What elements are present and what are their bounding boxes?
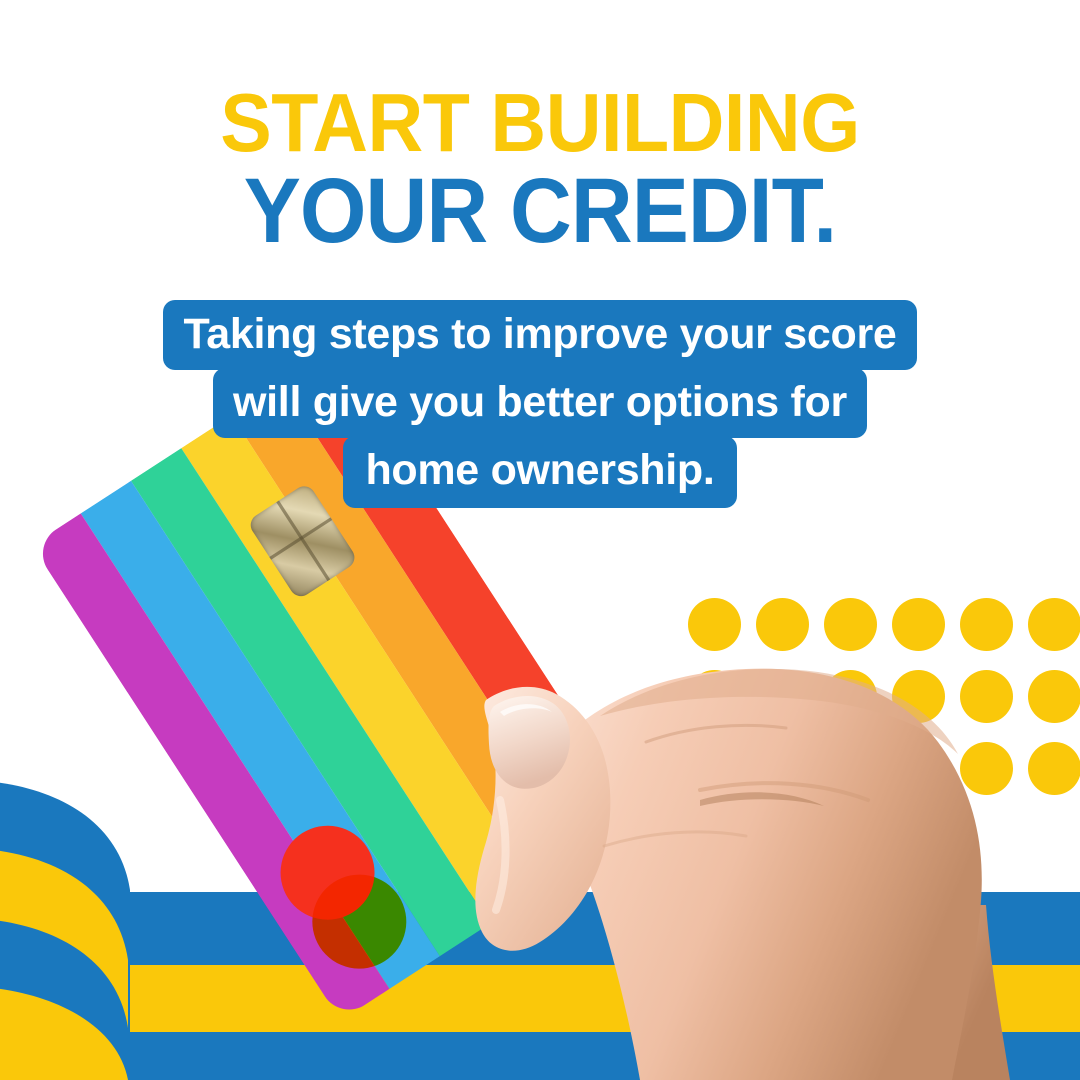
dot <box>892 670 945 723</box>
credit-card-graphic <box>112 508 542 1008</box>
wave-riser-blue-2 <box>0 918 128 1080</box>
subtitle-line-1: Taking steps to improve your score <box>163 300 916 370</box>
logo-circle-red <box>263 808 393 938</box>
dot <box>824 598 877 651</box>
thumbnail <box>489 696 570 789</box>
knuckle-shadow <box>700 792 824 806</box>
payment-network-logo <box>263 808 425 987</box>
dot <box>756 598 809 651</box>
dot <box>892 742 945 795</box>
card-stripe-magenta <box>32 513 390 1021</box>
headline: START BUILDING YOUR CREDIT. <box>0 84 1080 255</box>
wave-riser-yellow-2 <box>0 986 128 1080</box>
thumb-highlight <box>496 800 506 910</box>
dot <box>756 670 809 723</box>
card-stripe-blue <box>81 481 440 989</box>
headline-line-1: START BUILDING <box>38 84 1042 161</box>
wave-stripe-yellow-main <box>130 965 1080 1032</box>
forearm <box>618 905 1010 1080</box>
dot <box>1028 670 1080 723</box>
thumb <box>475 687 610 951</box>
thumbnail-highlight <box>500 704 552 716</box>
wave-stripes-decoration <box>0 750 1080 1080</box>
subtitle-line-2: will give you better options for <box>213 368 867 438</box>
card-stripe-green <box>131 448 490 956</box>
hand-palm <box>557 669 982 1080</box>
dot <box>960 742 1013 795</box>
dot <box>688 670 741 723</box>
dot <box>960 598 1013 651</box>
dots-grid-decoration <box>688 598 1080 810</box>
dot <box>1028 742 1080 795</box>
wave-stripe-blue-main <box>130 892 1080 965</box>
dot <box>1028 598 1080 651</box>
finger-crease-2 <box>700 783 868 800</box>
dot <box>688 598 741 651</box>
finger-crease-1 <box>646 725 786 742</box>
dot <box>824 670 877 723</box>
dot <box>960 670 1013 723</box>
wave-stripe-blue-bottom <box>130 1032 1080 1080</box>
finger-knuckle-ridge <box>600 669 958 754</box>
finger-crease-3 <box>604 832 746 846</box>
wave-riser-yellow-1 <box>0 848 128 1080</box>
logo-circle-yellow <box>294 857 424 987</box>
wave-band-blue-1 <box>0 780 130 1080</box>
dot <box>824 742 877 795</box>
headline-line-2: YOUR CREDIT. <box>38 169 1042 255</box>
subtitle-block: Taking steps to improve your score will … <box>0 300 1080 508</box>
poster-canvas: START BUILDING YOUR CREDIT. Taking steps… <box>0 0 1080 1080</box>
subtitle-line-3: home ownership. <box>343 436 736 508</box>
dot <box>892 598 945 651</box>
